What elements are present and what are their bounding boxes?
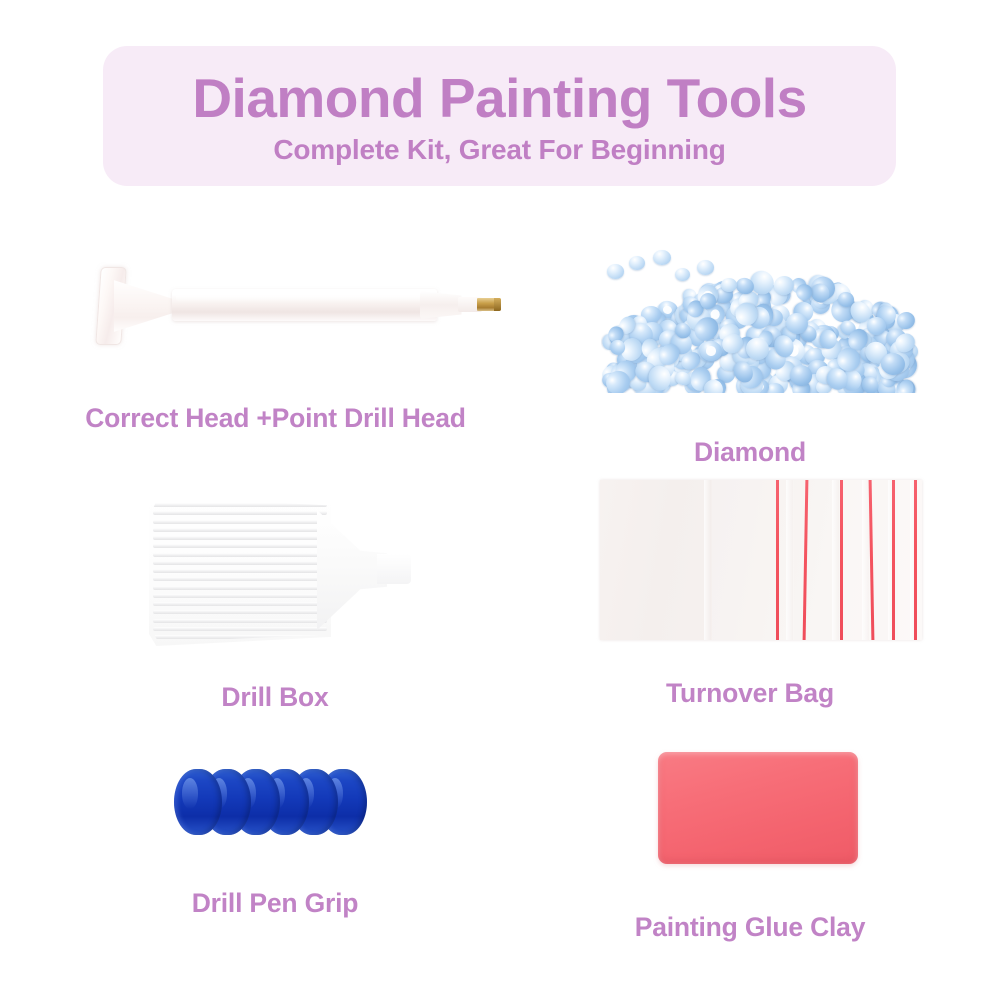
item-label-drill-box: Drill Box bbox=[221, 682, 328, 713]
diamond-drill bbox=[607, 264, 624, 279]
page-subtitle: Complete Kit, Great For Beginning bbox=[273, 134, 725, 166]
diamond-drill bbox=[629, 256, 645, 270]
turnover-bag-seal-stripe bbox=[914, 480, 917, 640]
item-label-diamond: Diamond bbox=[694, 437, 806, 468]
drill-box-handle bbox=[377, 554, 411, 584]
drill-box-groove bbox=[153, 586, 327, 590]
diamond-drill-pile bbox=[601, 238, 919, 393]
drill-box-groove bbox=[153, 594, 327, 598]
drill-pen-grip-image bbox=[40, 760, 510, 846]
drill-box-groove bbox=[153, 569, 327, 573]
painting-glue-clay-image bbox=[520, 752, 980, 864]
drill-box-illustration bbox=[149, 480, 411, 660]
turnover-bag-fold bbox=[832, 480, 839, 640]
drill-box-grooves bbox=[153, 498, 327, 642]
drill-pen-illustration bbox=[68, 255, 498, 355]
drill-box-groove bbox=[153, 536, 327, 540]
product-item-drill-box: Drill Box bbox=[40, 480, 510, 713]
drill-pen-grip-illustration bbox=[170, 760, 388, 846]
product-infographic: Diamond Painting Tools Complete Kit, Gre… bbox=[0, 0, 1000, 1000]
turnover-bag-seal-stripe bbox=[776, 480, 779, 640]
turnover-bag-fold bbox=[704, 480, 711, 640]
header-banner: Diamond Painting Tools Complete Kit, Gre… bbox=[103, 46, 896, 186]
turnover-bag-image bbox=[520, 480, 980, 640]
page-title: Diamond Painting Tools bbox=[192, 70, 806, 128]
turnover-bag-panel bbox=[712, 480, 794, 640]
drill-box-groove bbox=[153, 528, 327, 532]
product-item-painting-glue-clay: Painting Glue Clay bbox=[520, 752, 980, 943]
pen-flare-cone bbox=[114, 280, 176, 332]
grip-ridge bbox=[174, 769, 222, 835]
drill-box-groove bbox=[153, 520, 327, 524]
pen-gold-tip bbox=[477, 298, 501, 311]
drill-box-groove bbox=[153, 553, 327, 557]
turnover-bag-fold bbox=[862, 480, 869, 640]
diamond-image bbox=[520, 238, 980, 393]
diamond-drill bbox=[721, 278, 737, 292]
drill-box-image bbox=[40, 480, 510, 660]
turnover-bag-seal-stripe bbox=[892, 480, 895, 640]
drill-box-groove bbox=[153, 610, 327, 614]
diamond-drill bbox=[697, 260, 714, 275]
turnover-bag-seal-stripe bbox=[840, 480, 843, 640]
product-item-turnover-bag: Turnover Bag bbox=[520, 480, 980, 709]
drill-box-groove bbox=[153, 602, 327, 606]
turnover-bag-panel bbox=[600, 480, 712, 640]
product-item-diamond: Diamond bbox=[520, 238, 980, 468]
diamond-drill bbox=[675, 268, 690, 281]
pen-collar bbox=[420, 291, 462, 319]
turnover-bag-fold bbox=[786, 480, 793, 640]
drill-box-groove bbox=[153, 627, 327, 631]
drill-box-groove bbox=[153, 619, 327, 623]
turnover-bag-illustration bbox=[600, 480, 922, 640]
product-item-correct-head-point-drill-head: Correct Head +Point Drill Head bbox=[28, 255, 523, 434]
item-label-turnover-bag: Turnover Bag bbox=[666, 678, 834, 709]
pen-barrel bbox=[172, 289, 437, 321]
drill-box-groove bbox=[153, 544, 327, 548]
drill-box-groove bbox=[153, 561, 327, 565]
correct-head-point-drill-head-image bbox=[28, 255, 523, 355]
drill-box-groove bbox=[153, 511, 327, 515]
glue-clay-block bbox=[658, 752, 858, 864]
item-label-painting-glue-clay: Painting Glue Clay bbox=[635, 912, 866, 943]
item-label-correct-head: Correct Head +Point Drill Head bbox=[85, 403, 466, 434]
drill-box-groove bbox=[153, 577, 327, 581]
product-item-drill-pen-grip: Drill Pen Grip bbox=[40, 760, 510, 919]
item-label-drill-pen-grip: Drill Pen Grip bbox=[192, 888, 359, 919]
diamond-drill bbox=[653, 250, 671, 265]
